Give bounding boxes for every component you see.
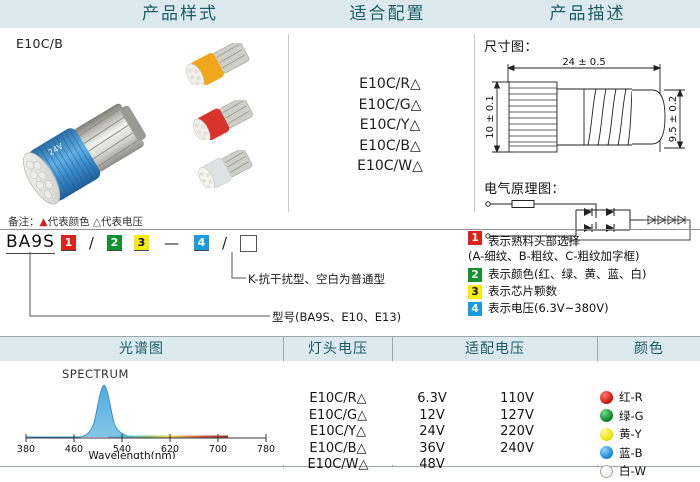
spectrum-chart: 380 460 540 620 700 780 Wavelength(nm) bbox=[8, 379, 276, 459]
spec-table: 光谱图 灯头电压 适配电压 颜色 SPECTRUM bbox=[0, 336, 700, 467]
color-dot-yellow bbox=[600, 428, 613, 441]
legend-item-3: 3 表示芯片颗数 bbox=[468, 284, 700, 299]
small-lamp-yellow bbox=[178, 43, 256, 85]
remark-line: 备注：▲代表颜色 △代表电压 bbox=[8, 214, 143, 229]
spectrum-tick-380: 380 bbox=[17, 444, 35, 455]
legend-text-3: 表示芯片颗数 bbox=[488, 284, 557, 298]
color-row: 白-W bbox=[600, 463, 696, 479]
dimension-height-right-label: 9.5 ± 0.2 bbox=[668, 96, 679, 143]
color-dot-white bbox=[600, 465, 613, 478]
header-product-style: 产品样式 bbox=[60, 0, 300, 28]
config-code: E10C/R△ bbox=[300, 74, 480, 95]
spec-sheet: 产品样式 适合配置 产品描述 E10C/B bbox=[0, 0, 700, 465]
fit-voltage-low-column: 6.3V 12V 24V 36V 48V bbox=[398, 391, 466, 474]
header-product-description: 产品描述 bbox=[480, 0, 695, 28]
spectrum-tick-700: 700 bbox=[209, 444, 227, 455]
color-row: 蓝-B bbox=[600, 445, 696, 461]
coding-blank-box bbox=[240, 235, 257, 252]
config-code: E10C/G△ bbox=[300, 95, 480, 116]
config-code: E10C/Y△ bbox=[300, 115, 480, 136]
coding-chip-1: 1 bbox=[61, 235, 76, 251]
voltage-value: 12V bbox=[398, 408, 466, 425]
voltage-value: 24V bbox=[398, 424, 466, 441]
config-code: E10C/B△ bbox=[300, 136, 480, 157]
config-code: E10C/W△ bbox=[300, 156, 480, 177]
legend-chip-3: 3 bbox=[468, 285, 482, 299]
voltage-value: 36V bbox=[398, 441, 466, 458]
color-row: 绿-G bbox=[600, 408, 696, 424]
th-color: 颜色 bbox=[598, 337, 700, 361]
dimension-title: 尺寸图： bbox=[484, 40, 538, 55]
main-lamp-image: 24V bbox=[12, 86, 162, 216]
dimension-title-wrap: 尺寸图： bbox=[484, 36, 696, 55]
color-row: 黄-Y bbox=[600, 426, 696, 442]
legend-chip-2: 2 bbox=[468, 268, 482, 282]
lamp-voltage-column: E10C/R△ E10C/G△ E10C/Y△ E10C/B△ E10C/W△ bbox=[284, 391, 392, 474]
legend-item-4: 4 表示电压(6.3V~380V) bbox=[468, 301, 700, 316]
legend-text-4: 表示电压(6.3V~380V) bbox=[488, 301, 609, 315]
voltage-value: 6.3V bbox=[398, 391, 466, 408]
circuit-title: 电气原理图： bbox=[484, 178, 565, 197]
callout-model-type: 型号(BA9S、E10、E13) bbox=[272, 309, 401, 325]
callout-k-type: K-抗干扰型、空白为普通型 bbox=[248, 271, 385, 287]
color-label: 绿-G bbox=[619, 408, 644, 424]
color-label: 蓝-B bbox=[619, 445, 643, 461]
color-label: 白-W bbox=[619, 463, 646, 479]
dimension-height-left-label: 10 ± 0.1 bbox=[485, 95, 496, 138]
lamp-model: E10C/G△ bbox=[284, 408, 392, 425]
spectrum-xlabel: Wavelength(nm) bbox=[88, 450, 175, 459]
section-header-band: 产品样式 适合配置 产品描述 bbox=[0, 0, 700, 28]
color-column: 红-R 绿-G 黄-Y 蓝-B 白-W bbox=[600, 389, 696, 482]
coding-chip-4: 4 bbox=[194, 235, 209, 251]
lamp-model: E10C/Y△ bbox=[284, 424, 392, 441]
legend-chip-4: 4 bbox=[468, 302, 482, 316]
coding-chip-3: 3 bbox=[134, 235, 149, 251]
small-lamp-white bbox=[192, 150, 256, 188]
model-label: E10C/B bbox=[16, 36, 63, 51]
legend-subtext-1: (A-细纹、B-粗纹、C-粗纹加字框) bbox=[468, 249, 700, 264]
filled-triangle-icon: ▲ bbox=[40, 216, 48, 228]
legend-list: 1 表示熟料头部选择 (A-细纹、B-粗纹、C-粗纹加字框) 2 表示颜色(红、… bbox=[468, 230, 700, 318]
remark-prefix: 备注： bbox=[8, 216, 40, 228]
legend-item-1: 1 表示熟料头部选择 bbox=[468, 230, 700, 249]
color-label: 红-R bbox=[619, 389, 643, 405]
lamp-model: E10C/W△ bbox=[284, 457, 392, 474]
spectrum-tick-780: 780 bbox=[257, 444, 275, 455]
small-lamp-red bbox=[186, 100, 258, 140]
top-section: E10C/B bbox=[0, 28, 700, 212]
voltage-value: 110V bbox=[478, 391, 556, 408]
config-code-list: E10C/R△ E10C/G△ E10C/Y△ E10C/B△ E10C/W△ bbox=[300, 74, 480, 177]
remark-voltage-text: 代表电压 bbox=[101, 216, 143, 228]
remark-color-text: 代表颜色 bbox=[48, 216, 90, 228]
dimension-drawing: 24 ± 0.5 10 ± 0.1 9.5 ± 0.2 bbox=[484, 56, 696, 166]
th-fit-voltage: 适配电压 bbox=[393, 337, 597, 361]
th-spectrum: 光谱图 bbox=[0, 337, 283, 361]
voltage-value: 220V bbox=[478, 424, 556, 441]
spectrum-tick-460: 460 bbox=[65, 444, 83, 455]
voltage-value: 127V bbox=[478, 408, 556, 425]
lamp-model: E10C/B△ bbox=[284, 441, 392, 458]
spec-table-header: 光谱图 灯头电压 适配电压 颜色 bbox=[0, 337, 700, 362]
legend-text-2: 表示颜色(红、绿、黄、蓝、白) bbox=[488, 267, 646, 281]
open-triangle-icon: △ bbox=[93, 216, 101, 228]
color-row: 红-R bbox=[600, 389, 696, 405]
legend-item-2: 2 表示颜色(红、绿、黄、蓝、白) bbox=[468, 267, 700, 282]
column-divider-1 bbox=[288, 34, 289, 212]
legend-chip-1: 1 bbox=[468, 231, 482, 245]
color-label: 黄-Y bbox=[619, 426, 642, 442]
header-suitable-config: 适合配置 bbox=[300, 0, 475, 28]
voltage-value: 48V bbox=[398, 457, 466, 474]
color-dot-blue bbox=[600, 446, 613, 459]
legend-text-1: 表示熟料头部选择 bbox=[488, 234, 580, 248]
color-dot-green bbox=[600, 409, 613, 422]
dimension-width-label: 24 ± 0.5 bbox=[562, 57, 605, 68]
spec-table-body: SPECTRUM bbox=[0, 361, 700, 465]
fit-voltage-high-column: 110V 127V 220V 240V bbox=[478, 391, 556, 457]
th-lamp-voltage: 灯头电压 bbox=[284, 337, 392, 361]
column-divider-2 bbox=[474, 34, 475, 212]
color-dot-red bbox=[600, 391, 613, 404]
voltage-value: 240V bbox=[478, 441, 556, 458]
lamp-model: E10C/R△ bbox=[284, 391, 392, 408]
coding-chip-2: 2 bbox=[107, 235, 122, 251]
